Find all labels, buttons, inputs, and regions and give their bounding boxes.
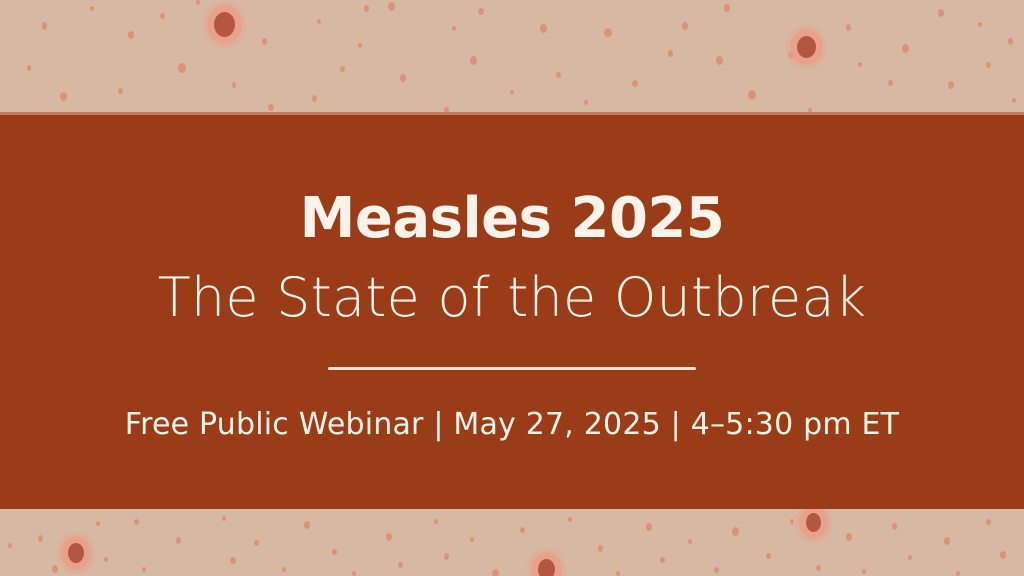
rash-speck-small-icon	[748, 90, 756, 100]
rash-speck-small-icon	[478, 8, 484, 15]
rash-speck-small-icon	[96, 521, 100, 526]
rash-speck-small-icon	[222, 516, 226, 521]
rash-speck-small-icon	[492, 569, 499, 576]
rash-speck-small-icon	[1000, 551, 1006, 559]
rash-speck-small-icon	[364, 5, 369, 12]
rash-speck-large-icon	[68, 543, 84, 563]
rash-speck-small-icon	[766, 553, 771, 559]
rash-speck-small-icon	[386, 533, 392, 541]
rash-speck-large-icon	[538, 559, 555, 576]
rash-speck-small-icon	[556, 72, 561, 78]
rash-speck-small-icon	[986, 519, 991, 525]
rash-speck-small-icon	[104, 557, 108, 562]
rash-speck-small-icon	[604, 28, 612, 37]
rash-speck-small-icon	[714, 567, 719, 573]
rash-speck-small-icon	[38, 535, 43, 542]
top-rash-band	[0, 0, 1024, 115]
rash-speck-small-icon	[268, 104, 274, 111]
rash-speck-small-icon	[888, 80, 893, 86]
rash-speck-small-icon	[254, 540, 259, 546]
rash-speck-small-icon	[262, 38, 267, 45]
rash-speck-small-icon	[1008, 38, 1013, 45]
rash-speck-small-icon	[332, 549, 337, 555]
rash-speck-small-icon	[788, 51, 794, 59]
rash-speck-small-icon	[160, 13, 165, 19]
rash-speck-small-icon	[892, 523, 897, 530]
rash-speck-small-icon	[27, 65, 31, 71]
divider	[328, 367, 696, 370]
rash-speck-small-icon	[682, 22, 688, 30]
rash-speck-small-icon	[632, 80, 638, 87]
rash-speck-small-icon	[196, 0, 200, 5]
rash-speck-small-icon	[944, 537, 950, 545]
rash-speck-small-icon	[598, 545, 603, 552]
rash-speck-large-icon	[797, 36, 816, 58]
rash-speck-small-icon	[520, 527, 525, 533]
rash-speck-large-icon	[214, 12, 235, 37]
rash-speck-small-icon	[452, 26, 456, 31]
rash-speck-small-icon	[317, 19, 321, 24]
rash-speck-small-icon	[858, 62, 862, 67]
rash-speck-small-icon	[668, 50, 673, 57]
rash-speck-small-icon	[358, 43, 362, 48]
rash-speck-small-icon	[568, 517, 572, 522]
rash-speck-small-icon	[398, 562, 403, 568]
rash-speck-small-icon	[230, 557, 236, 564]
rash-speck-small-icon	[312, 95, 317, 102]
rash-speck-small-icon	[862, 569, 866, 574]
rash-speck-small-icon	[470, 56, 477, 65]
rash-speck-small-icon	[510, 90, 514, 95]
rash-speck-small-icon	[938, 9, 944, 17]
title-panel: Measles 2025 The State of the Outbreak F…	[0, 115, 1024, 509]
rash-speck-small-icon	[232, 82, 236, 88]
rash-speck-small-icon	[178, 63, 186, 73]
rash-speck-large-icon	[806, 513, 821, 532]
rash-speck-small-icon	[540, 24, 547, 33]
rash-speck-small-icon	[400, 74, 406, 82]
rash-speck-small-icon	[434, 519, 438, 524]
rash-speck-small-icon	[118, 88, 123, 94]
rash-speck-small-icon	[732, 527, 739, 536]
event-details: Free Public Webinar | May 27, 2025 | 4–5…	[125, 410, 899, 440]
rash-speck-small-icon	[790, 519, 794, 524]
rash-speck-small-icon	[902, 44, 909, 53]
rash-speck-small-icon	[986, 62, 991, 68]
rash-speck-small-icon	[688, 539, 692, 544]
rash-speck-small-icon	[134, 519, 139, 525]
rash-speck-small-icon	[616, 571, 620, 576]
rash-speck-small-icon	[52, 565, 58, 573]
rash-speck-small-icon	[304, 521, 310, 529]
rash-speck-small-icon	[978, 22, 982, 27]
rash-speck-small-icon	[846, 533, 852, 541]
page-title: Measles 2025	[300, 191, 725, 247]
rash-speck-small-icon	[816, 565, 821, 571]
rash-speck-small-icon	[716, 56, 723, 65]
rash-speck-small-icon	[470, 537, 474, 542]
rash-speck-small-icon	[8, 543, 12, 548]
page-subtitle: The State of the Outbreak	[158, 271, 866, 325]
rash-speck-small-icon	[60, 92, 67, 101]
rash-speck-small-icon	[352, 571, 356, 576]
rash-speck-small-icon	[948, 81, 954, 89]
rash-speck-small-icon	[724, 4, 730, 12]
rash-speck-small-icon	[956, 571, 960, 576]
rash-speck-small-icon	[340, 66, 345, 72]
rash-speck-small-icon	[908, 555, 912, 560]
bottom-rash-band	[0, 509, 1024, 576]
rash-speck-small-icon	[846, 24, 851, 31]
webinar-title-slide: Measles 2025 The State of the Outbreak F…	[0, 0, 1024, 576]
rash-speck-small-icon	[90, 6, 94, 11]
rash-speck-small-icon	[142, 567, 146, 572]
rash-speck-small-icon	[128, 31, 134, 39]
rash-speck-small-icon	[660, 557, 665, 563]
rash-speck-small-icon	[1012, 98, 1016, 103]
rash-speck-small-icon	[176, 537, 181, 544]
rash-speck-small-icon	[444, 553, 449, 560]
rash-speck-small-icon	[282, 567, 286, 572]
rash-speck-small-icon	[646, 523, 652, 531]
rash-speck-small-icon	[584, 100, 588, 105]
rash-speck-small-icon	[42, 22, 47, 30]
rash-speck-small-icon	[388, 2, 395, 11]
